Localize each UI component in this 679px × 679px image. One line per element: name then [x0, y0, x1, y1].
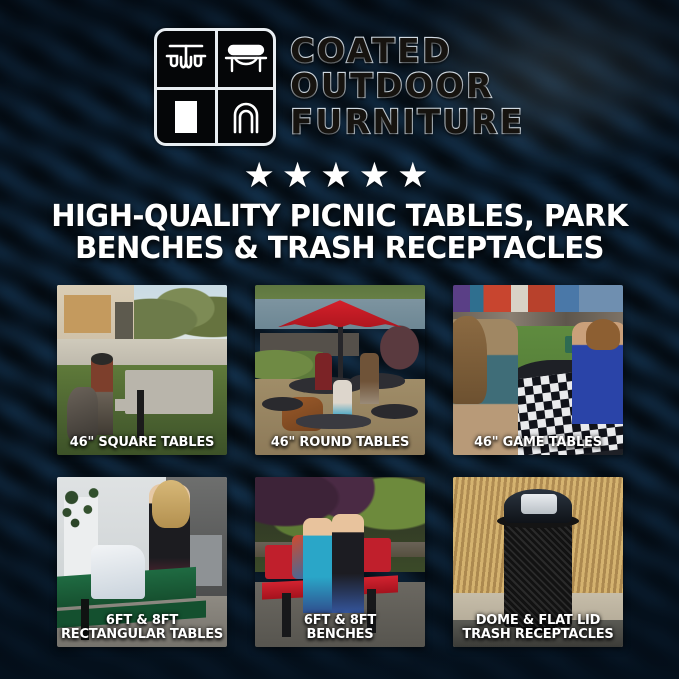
- headline-line-1: HIGH-QUALITY PICNIC TABLES, PARK: [10, 201, 669, 233]
- star-rating: ★★★★★: [0, 158, 679, 193]
- star-icon-4: ★: [359, 158, 397, 193]
- picnic-table-icon: [157, 31, 215, 87]
- caption-line-1: 46" ROUND TABLES: [257, 436, 423, 450]
- star-icon-2: ★: [282, 158, 320, 193]
- brand-word-line-3: FURNITURE: [290, 105, 524, 139]
- brand-logo: COATED OUTDOOR FURNITURE: [0, 28, 679, 146]
- star-icon-1: ★: [244, 158, 282, 193]
- product-photo-game-tables: [453, 285, 623, 455]
- product-card-trash-receptacles[interactable]: DOME & FLAT LID TRASH RECEPTACLES: [453, 477, 623, 647]
- brand-word-line-2: OUTDOOR: [290, 69, 524, 103]
- headline: HIGH-QUALITY PICNIC TABLES, PARK BENCHES…: [0, 201, 679, 266]
- product-card-caption: 6FT & 8FT BENCHES: [255, 614, 425, 642]
- product-banner: COATED OUTDOOR FURNITURE ★★★★★ HIGH-QUAL…: [0, 0, 679, 679]
- product-photo-square-tables: [57, 285, 227, 455]
- bike-rack-arch-icon: [215, 87, 273, 143]
- product-card-grid: 46" SQUARE TABLES: [57, 285, 623, 647]
- product-card-caption: DOME & FLAT LID TRASH RECEPTACLES: [453, 614, 623, 642]
- product-card-benches[interactable]: 6FT & 8FT BENCHES: [255, 477, 425, 647]
- product-card-square-tables[interactable]: 46" SQUARE TABLES: [57, 285, 227, 455]
- caption-line-2: TRASH RECEPTACLES: [455, 628, 621, 642]
- caption-line-2: RECTANGULAR TABLES: [59, 628, 225, 642]
- star-icon-3: ★: [320, 158, 358, 193]
- product-card-caption: 46" SQUARE TABLES: [57, 436, 227, 450]
- product-card-rectangular-tables[interactable]: 6FT & 8FT RECTANGULAR TABLES: [57, 477, 227, 647]
- coated-outdoor-furniture-logo-mark: [154, 28, 276, 146]
- headline-line-2: BENCHES & TRASH RECEPTACLES: [10, 233, 669, 265]
- product-card-round-tables[interactable]: 46" ROUND TABLES: [255, 285, 425, 455]
- product-card-caption: 46" GAME TABLES: [453, 436, 623, 450]
- star-icon-5: ★: [397, 158, 435, 193]
- trash-receptacle-flat-lid-icon: [157, 87, 215, 143]
- caption-line-2: BENCHES: [257, 628, 423, 642]
- product-card-caption: 6FT & 8FT RECTANGULAR TABLES: [57, 614, 227, 642]
- brand-wordmark: COATED OUTDOOR FURNITURE: [290, 34, 524, 141]
- caption-line-1: 46" GAME TABLES: [455, 436, 621, 450]
- product-photo-round-tables: [255, 285, 425, 455]
- caption-line-1: 46" SQUARE TABLES: [59, 436, 225, 450]
- brand-word-line-1: COATED: [290, 34, 524, 68]
- product-card-game-tables[interactable]: 46" GAME TABLES: [453, 285, 623, 455]
- park-bench-icon: [215, 31, 273, 87]
- product-card-caption: 46" ROUND TABLES: [255, 436, 425, 450]
